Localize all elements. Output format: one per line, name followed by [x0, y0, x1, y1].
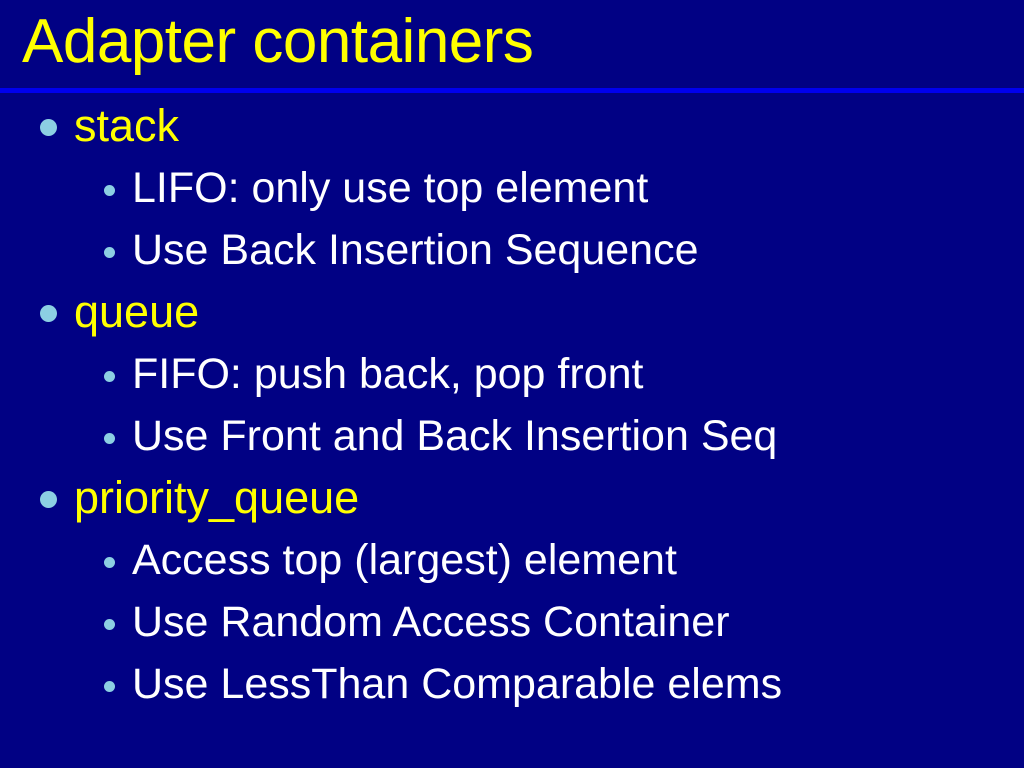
- bullet-level2-label: LIFO: only use top element: [132, 157, 648, 219]
- bullet-dot-icon: [40, 119, 57, 136]
- bullet-group-queue: queue FIFO: push back, pop front Use Fro…: [0, 281, 1024, 467]
- bullet-level2: Use Back Insertion Sequence: [0, 219, 1024, 281]
- bullet-dot-icon: [104, 557, 115, 568]
- bullet-level2: FIFO: push back, pop front: [0, 343, 1024, 405]
- bullet-dot-icon: [104, 681, 115, 692]
- bullet-level2-label: Use Front and Back Insertion Seq: [132, 405, 777, 467]
- slide-body: stack LIFO: only use top element Use Bac…: [0, 95, 1024, 768]
- bullet-level1: stack: [0, 95, 1024, 157]
- bullet-dot-icon: [104, 619, 115, 630]
- bullet-level1-label: stack: [74, 95, 179, 157]
- bullet-level1-label: priority_queue: [74, 467, 359, 529]
- bullet-group-priority-queue: priority_queue Access top (largest) elem…: [0, 467, 1024, 715]
- bullet-level2: LIFO: only use top element: [0, 157, 1024, 219]
- bullet-level1-label: queue: [74, 281, 199, 343]
- bullet-level2-label: Use Back Insertion Sequence: [132, 219, 699, 281]
- slide-title-band: Adapter containers: [0, 0, 1024, 88]
- bullet-dot-icon: [104, 433, 115, 444]
- bullet-level2: Access top (largest) element: [0, 529, 1024, 591]
- bullet-dot-icon: [104, 371, 115, 382]
- bullet-dot-icon: [40, 305, 57, 322]
- bullet-level2-label: Use Random Access Container: [132, 591, 730, 653]
- bullet-level2: Use Front and Back Insertion Seq: [0, 405, 1024, 467]
- bullet-level1: queue: [0, 281, 1024, 343]
- bullet-level1: priority_queue: [0, 467, 1024, 529]
- bullet-level2: Use Random Access Container: [0, 591, 1024, 653]
- bullet-level2-label: Use LessThan Comparable elems: [132, 653, 782, 715]
- bullet-level2: Use LessThan Comparable elems: [0, 653, 1024, 715]
- bullet-dot-icon: [104, 185, 115, 196]
- bullet-group-stack: stack LIFO: only use top element Use Bac…: [0, 95, 1024, 281]
- bullet-dot-icon: [104, 247, 115, 258]
- bullet-level2-label: FIFO: push back, pop front: [132, 343, 643, 405]
- bullet-level2-label: Access top (largest) element: [132, 529, 677, 591]
- slide-title: Adapter containers: [22, 0, 533, 86]
- bullet-dot-icon: [40, 491, 57, 508]
- presentation-slide: Adapter containers stack LIFO: only use …: [0, 0, 1024, 768]
- title-divider-rule: [0, 88, 1024, 93]
